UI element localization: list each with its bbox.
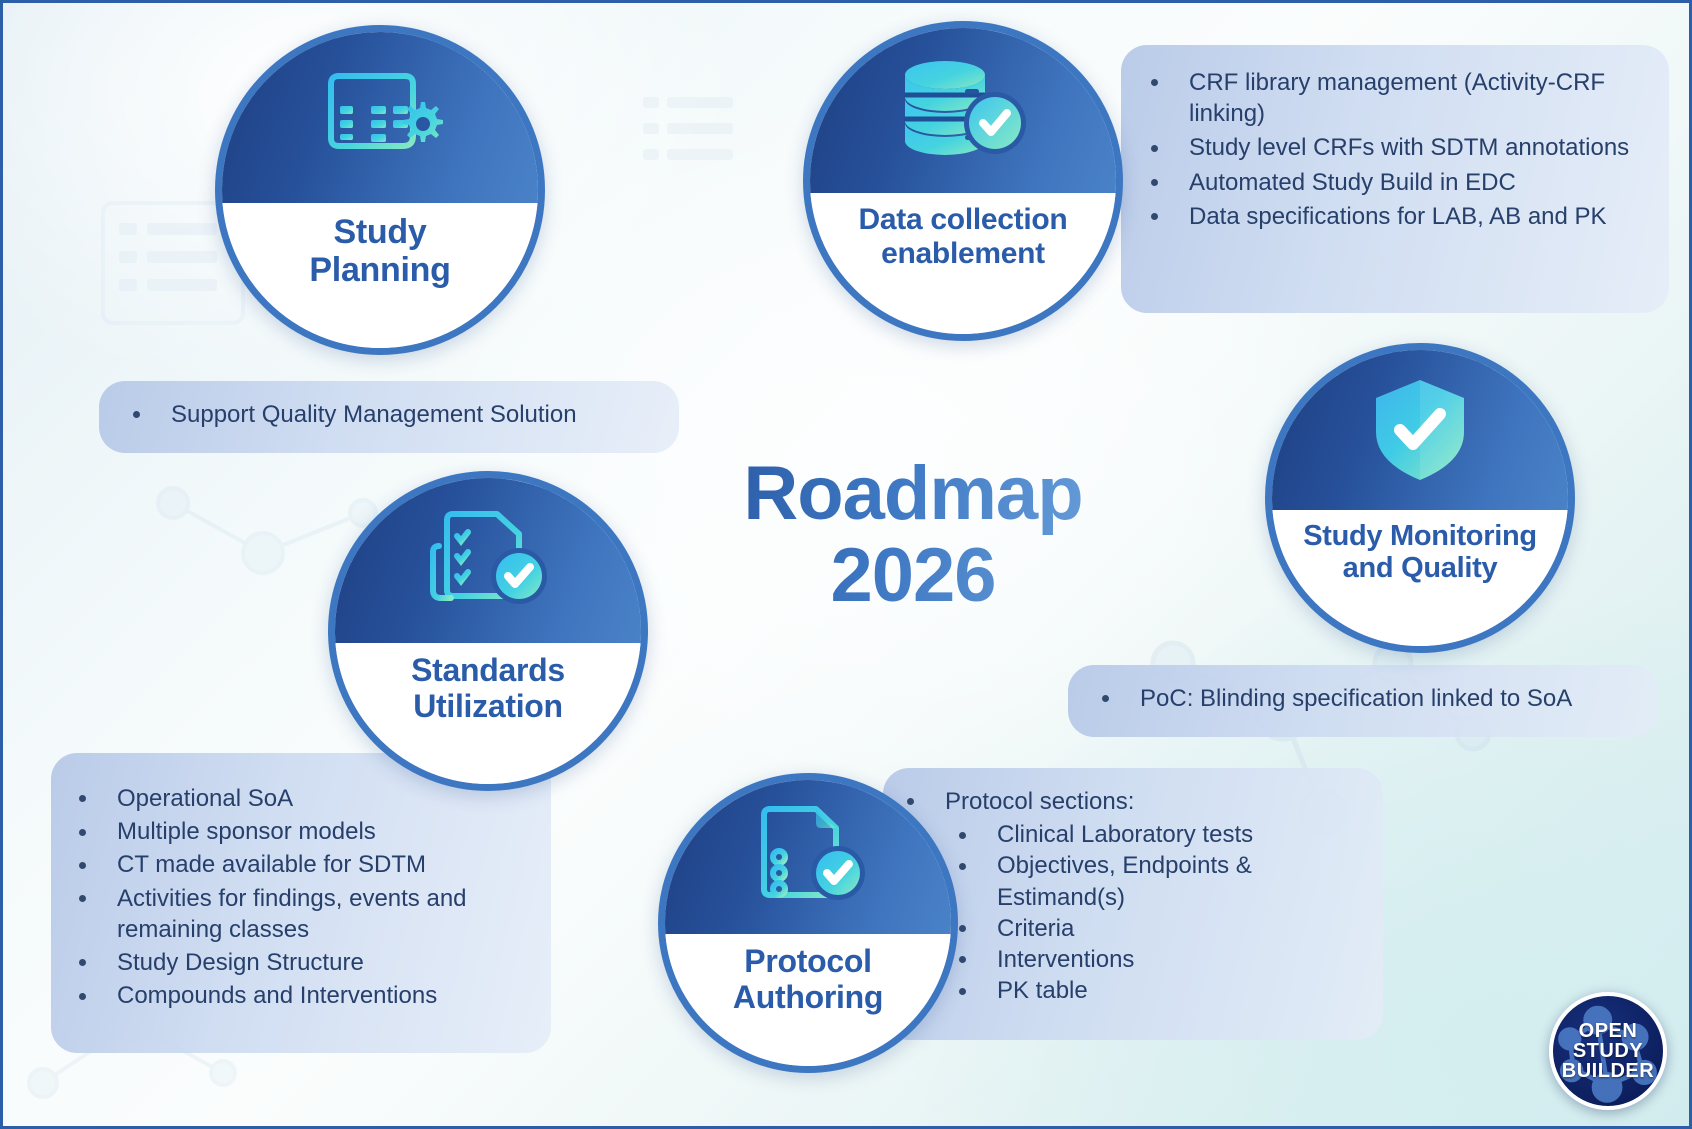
node-label-line2: Authoring <box>733 980 883 1016</box>
list-item: Multiple sponsor models <box>65 816 529 847</box>
node-study-monitoring[interactable]: Study Monitoring and Quality <box>1265 343 1575 653</box>
node-standards-utilization[interactable]: Standards Utilization <box>328 471 648 791</box>
panel-protocol-authoring: Protocol sections: Clinical Laboratory t… <box>883 768 1383 1040</box>
node-label-line1: Study Monitoring <box>1303 520 1537 552</box>
bullet-dot <box>1151 79 1158 86</box>
database-check-icon <box>893 55 1033 167</box>
protocol-subsection-list: Clinical Laboratory tests Objectives, En… <box>945 819 1363 1006</box>
list-item: Study Design Structure <box>65 947 529 978</box>
bullet-dot <box>1102 695 1109 702</box>
node-label: Protocol Authoring <box>733 944 883 1016</box>
bullet-dot <box>959 832 966 839</box>
list-item: Clinical Laboratory tests <box>945 819 1363 850</box>
node-icon-area <box>222 32 538 203</box>
panel-study-monitoring: PoC: Blinding specification linked to So… <box>1068 665 1658 737</box>
node-label-line2: and Quality <box>1303 552 1537 584</box>
list-item: Support Quality Management Solution <box>119 399 659 430</box>
bullet-dot <box>959 988 966 995</box>
bullet-dot <box>79 993 86 1000</box>
logo-line1: OPEN <box>1562 1021 1654 1041</box>
list-item: CRF library management (Activity-CRF lin… <box>1137 67 1647 129</box>
list-item: Data specifications for LAB, AB and PK <box>1137 201 1647 232</box>
panel-study-planning: Support Quality Management Solution <box>99 381 679 453</box>
list-item: Compounds and Interventions <box>65 980 529 1011</box>
page-title-line1: Roadmap <box>703 453 1123 535</box>
protocol-bullet-list: Protocol sections: Clinical Laboratory t… <box>893 786 1363 1006</box>
page-title-line2: 2026 <box>703 535 1123 617</box>
document-checklist-check-icon <box>748 805 868 909</box>
node-label-line2: enablement <box>859 237 1068 271</box>
node-icon-area <box>810 28 1116 193</box>
node-label-line1: Study <box>309 213 450 251</box>
bullet-dot <box>1151 145 1158 152</box>
checklist-document-check-icon <box>425 508 551 614</box>
logo-line2: STUDY <box>1562 1041 1654 1061</box>
bullet-dot <box>79 829 86 836</box>
node-label: Study Planning <box>309 213 450 289</box>
study-monitoring-bullet-list: PoC: Blinding specification linked to So… <box>1088 683 1638 714</box>
node-label-line1: Protocol <box>733 944 883 980</box>
node-protocol-authoring[interactable]: Protocol Authoring <box>658 773 958 1073</box>
bullet-dot <box>907 798 914 805</box>
bullet-dot <box>79 795 86 802</box>
logo-text: OPEN STUDY BUILDER <box>1562 1021 1654 1081</box>
node-label-area: Study Monitoring and Quality <box>1272 510 1568 646</box>
open-study-builder-logo[interactable]: OPEN STUDY BUILDER <box>1549 992 1667 1110</box>
list-item: Criteria <box>945 913 1363 944</box>
list-item: Study level CRFs with SDTM annotations <box>1137 132 1647 163</box>
list-item: PK table <box>945 975 1363 1006</box>
list-item: Protocol sections: Clinical Laboratory t… <box>893 786 1363 1006</box>
standards-bullet-list: Operational SoA Multiple sponsor models … <box>65 783 529 1011</box>
data-collection-bullet-list: CRF library management (Activity-CRF lin… <box>1137 67 1647 232</box>
node-icon-area <box>335 478 641 643</box>
calendar-gear-icon <box>315 62 445 172</box>
node-label-line1: Standards <box>411 653 565 689</box>
node-data-collection[interactable]: Data collection enablement <box>803 21 1123 341</box>
bullet-dot <box>79 959 86 966</box>
node-label-area: Protocol Authoring <box>665 934 951 1066</box>
list-item: Activities for findings, events and rema… <box>65 883 529 945</box>
node-label: Standards Utilization <box>411 653 565 725</box>
study-planning-bullet-list: Support Quality Management Solution <box>119 399 659 430</box>
panel-data-collection: CRF library management (Activity-CRF lin… <box>1121 45 1669 313</box>
shield-check-icon <box>1368 374 1472 486</box>
network-watermark-top <box>633 83 813 203</box>
logo-line3: BUILDER <box>1562 1061 1654 1081</box>
node-label-line1: Data collection <box>859 203 1068 237</box>
bullet-dot <box>959 925 966 932</box>
node-label: Data collection enablement <box>859 203 1068 270</box>
node-label-area: Study Planning <box>222 203 538 348</box>
bullet-dot <box>1151 179 1158 186</box>
node-icon-area <box>1272 350 1568 510</box>
list-item: Objectives, Endpoints & Estimand(s) <box>945 850 1363 912</box>
list-item: Automated Study Build in EDC <box>1137 167 1647 198</box>
bullet-dot <box>79 895 86 902</box>
node-label-line2: Planning <box>309 251 450 289</box>
list-item: CT made available for SDTM <box>65 849 529 880</box>
bullet-dot <box>959 863 966 870</box>
node-label-line2: Utilization <box>411 689 565 725</box>
node-label: Study Monitoring and Quality <box>1303 520 1537 585</box>
page-title: Roadmap 2026 <box>703 453 1123 617</box>
list-item: PoC: Blinding specification linked to So… <box>1088 683 1638 714</box>
node-study-planning[interactable]: Study Planning <box>215 25 545 355</box>
bullet-dot <box>133 411 140 418</box>
roadmap-infographic: Roadmap 2026 Support Quality Management … <box>0 0 1692 1129</box>
bullet-dot <box>79 862 86 869</box>
node-label-area: Data collection enablement <box>810 193 1116 334</box>
bullet-dot <box>959 956 966 963</box>
panel-standards-utilization: Operational SoA Multiple sponsor models … <box>51 753 551 1053</box>
list-item: Interventions <box>945 944 1363 975</box>
bullet-dot <box>1151 213 1158 220</box>
